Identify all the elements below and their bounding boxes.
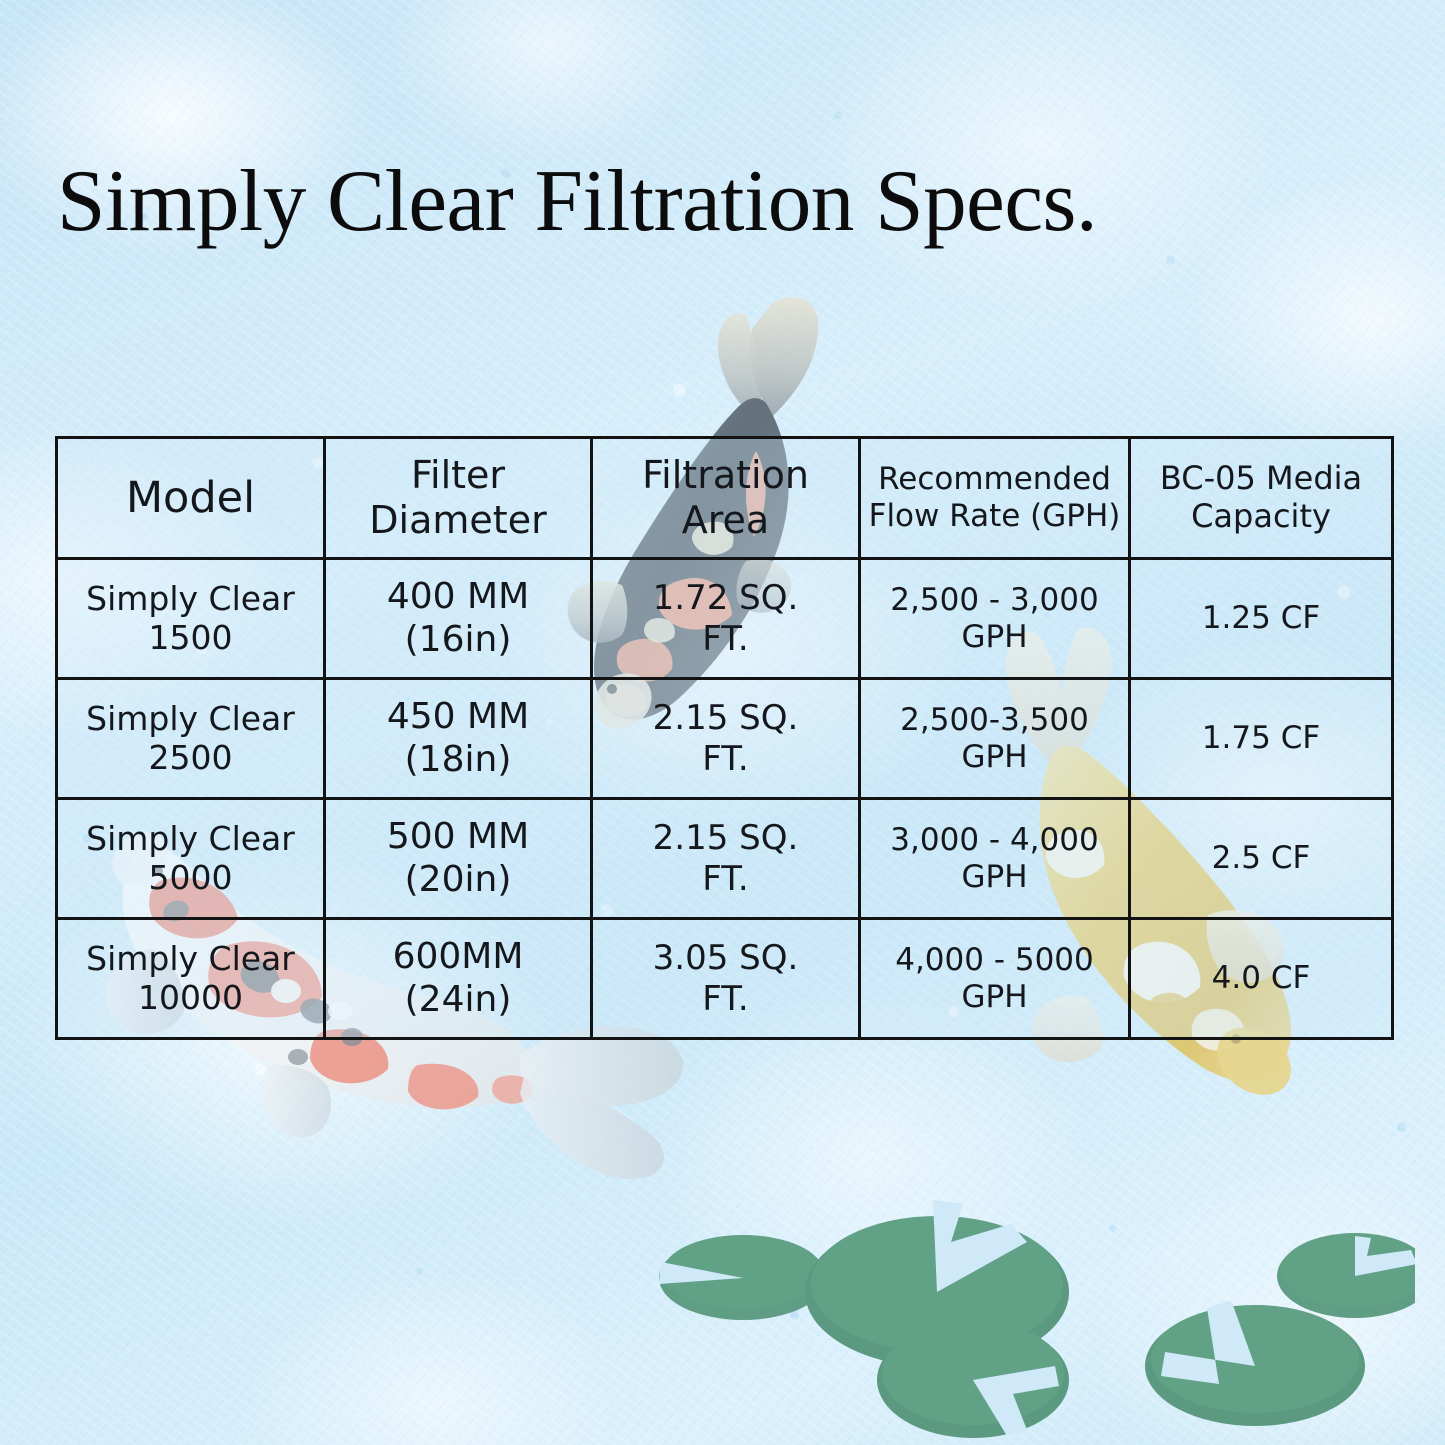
cell-flow-rate: 4,000 - 5000 GPH — [860, 919, 1130, 1039]
cell-filter-diameter: 600MM (24in) — [325, 919, 592, 1039]
cell-filtration-area: 2.15 SQ. FT. — [592, 679, 860, 799]
cell-media-capacity: 1.25 CF — [1130, 559, 1393, 679]
column-header-filtration-area: Filtration Area — [592, 438, 860, 559]
header-line: Diameter — [332, 498, 584, 543]
cell-line: 3.05 SQ. — [599, 938, 852, 978]
cell-line: 500 MM — [332, 816, 584, 858]
cell-flow-rate: 3,000 - 4,000 GPH — [860, 799, 1130, 919]
header-line: Filtration — [599, 453, 852, 498]
cell-line: (24in) — [332, 979, 584, 1021]
cell-line: Simply Clear — [64, 940, 317, 979]
cell-filtration-area: 1.72 SQ. FT. — [592, 559, 860, 679]
header-line: Filter — [332, 453, 584, 498]
cell-filter-diameter: 500 MM (20in) — [325, 799, 592, 919]
cell-line: (20in) — [332, 859, 584, 901]
cell-line: Simply Clear — [64, 820, 317, 859]
header-line: Recommended — [867, 461, 1122, 498]
header-line: Flow Rate (GPH) — [867, 498, 1122, 535]
cell-filter-diameter: 450 MM (18in) — [325, 679, 592, 799]
cell-line: GPH — [867, 859, 1122, 896]
cell-line: GPH — [867, 619, 1122, 656]
header-line: Area — [599, 498, 852, 543]
cell-model: Simply Clear 1500 — [57, 559, 325, 679]
cell-media-capacity: 4.0 CF — [1130, 919, 1393, 1039]
header-line: Capacity — [1137, 498, 1385, 536]
cell-line: 450 MM — [332, 696, 584, 738]
cell-line: 600MM — [332, 936, 584, 978]
cell-line: GPH — [867, 979, 1122, 1016]
column-header-filter-diameter: Filter Diameter — [325, 438, 592, 559]
cell-flow-rate: 2,500 - 3,000 GPH — [860, 559, 1130, 679]
cell-line: 1.72 SQ. — [599, 578, 852, 618]
cell-flow-rate: 2,500-3,500 GPH — [860, 679, 1130, 799]
cell-filtration-area: 3.05 SQ. FT. — [592, 919, 860, 1039]
table-row: Simply Clear 1500 400 MM (16in) 1.72 SQ.… — [57, 559, 1393, 679]
cell-line: 3,000 - 4,000 — [867, 822, 1122, 859]
cell-model: Simply Clear 10000 — [57, 919, 325, 1039]
cell-line: 1.75 CF — [1137, 720, 1385, 757]
cell-line: GPH — [867, 739, 1122, 776]
cell-line: 2.15 SQ. — [599, 698, 852, 738]
cell-line: 2,500 - 3,000 — [867, 582, 1122, 619]
cell-model: Simply Clear 5000 — [57, 799, 325, 919]
cell-line: (16in) — [332, 619, 584, 661]
cell-line: 10000 — [64, 979, 317, 1018]
cell-line: 2.15 SQ. — [599, 818, 852, 858]
column-header-flow-rate: Recommended Flow Rate (GPH) — [860, 438, 1130, 559]
cell-media-capacity: 2.5 CF — [1130, 799, 1393, 919]
cell-line: Simply Clear — [64, 700, 317, 739]
cell-line: 2,500-3,500 — [867, 702, 1122, 739]
header-line: BC-05 Media — [1137, 460, 1385, 498]
table-row: Simply Clear 10000 600MM (24in) 3.05 SQ.… — [57, 919, 1393, 1039]
table-row: Simply Clear 5000 500 MM (20in) 2.15 SQ.… — [57, 799, 1393, 919]
cell-line: Simply Clear — [64, 580, 317, 619]
cell-media-capacity: 1.75 CF — [1130, 679, 1393, 799]
cell-line: 2.5 CF — [1137, 840, 1385, 877]
cell-line: 5000 — [64, 859, 317, 898]
cell-line: 4,000 - 5000 — [867, 942, 1122, 979]
table-row: Simply Clear 2500 450 MM (18in) 2.15 SQ.… — [57, 679, 1393, 799]
cell-line: 1500 — [64, 619, 317, 658]
cell-line: 4.0 CF — [1137, 960, 1385, 997]
cell-line: 400 MM — [332, 576, 584, 618]
cell-line: FT. — [599, 619, 852, 659]
cell-line: 1.25 CF — [1137, 600, 1385, 637]
filtration-specs-table: Model Filter Diameter Filtration Area Re… — [55, 436, 1394, 1040]
cell-line: FT. — [599, 739, 852, 779]
cell-line: 2500 — [64, 739, 317, 778]
column-header-model: Model — [57, 438, 325, 559]
cell-line: FT. — [599, 979, 852, 1019]
cell-line: (18in) — [332, 739, 584, 781]
cell-line: FT. — [599, 859, 852, 899]
cell-filter-diameter: 400 MM (16in) — [325, 559, 592, 679]
table-header-row: Model Filter Diameter Filtration Area Re… — [57, 438, 1393, 559]
poster-canvas: Simply Clear Filtration Specs. Model Fil… — [0, 0, 1445, 1445]
column-header-media-capacity: BC-05 Media Capacity — [1130, 438, 1393, 559]
header-line: Model — [126, 473, 255, 523]
cell-filtration-area: 2.15 SQ. FT. — [592, 799, 860, 919]
cell-model: Simply Clear 2500 — [57, 679, 325, 799]
page-title: Simply Clear Filtration Specs. — [57, 158, 1384, 246]
